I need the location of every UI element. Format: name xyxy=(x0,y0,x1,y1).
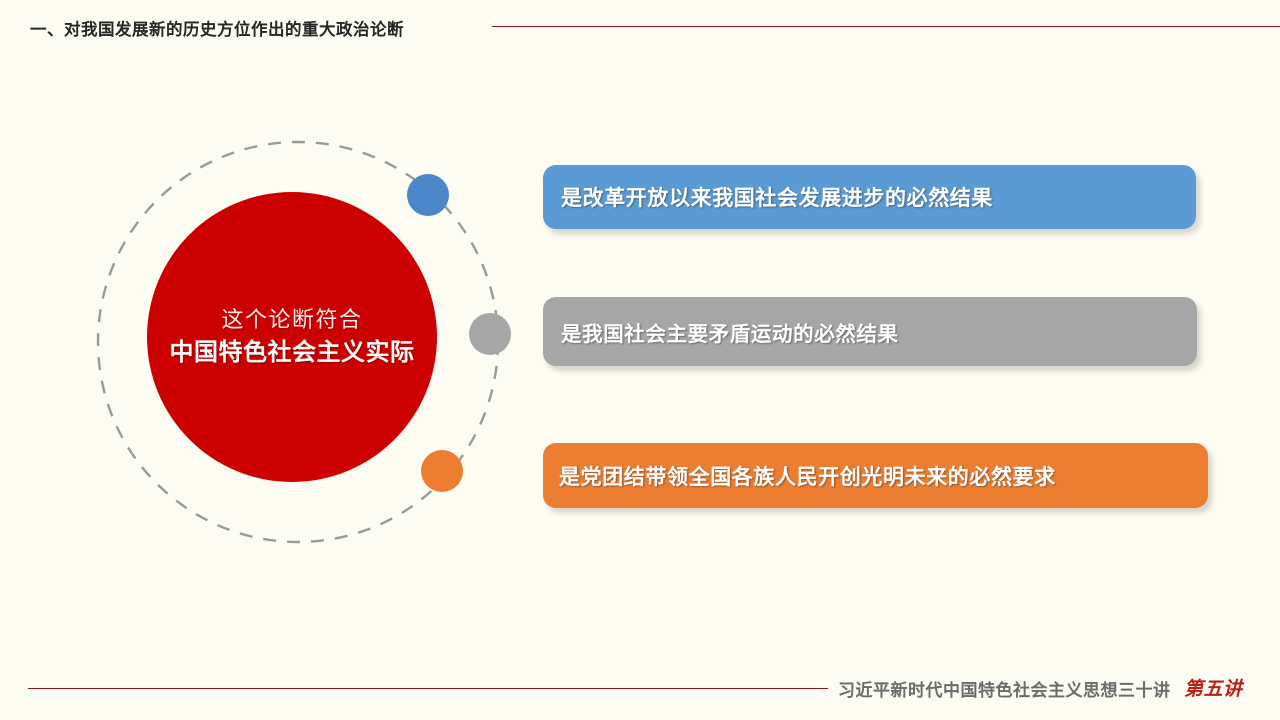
central-red-circle: 这个论断符合 中国特色社会主义实际 xyxy=(147,192,437,482)
gray-dot-icon xyxy=(469,313,511,355)
blue-dot-icon xyxy=(407,174,449,216)
statement-box-gray[interactable]: 是我国社会主要矛盾运动的必然结果 xyxy=(543,297,1197,366)
statement-text-1: 是改革开放以来我国社会发展进步的必然结果 xyxy=(561,182,993,212)
statement-text-3: 是党团结带领全国各族人民开创光明未来的必然要求 xyxy=(559,461,1056,491)
statement-box-blue[interactable]: 是改革开放以来我国社会发展进步的必然结果 xyxy=(543,165,1196,229)
slide-footer: 习近平新时代中国特色社会主义思想三十讲 第五讲 xyxy=(0,660,1280,720)
orange-dot-icon xyxy=(421,450,463,492)
orbit-diagram: 这个论断符合 中国特色社会主义实际 xyxy=(88,132,508,552)
circle-label-secondary: 中国特色社会主义实际 xyxy=(170,337,415,369)
header-divider-line xyxy=(492,26,1280,27)
slide-header: 一、对我国发展新的历史方位作出的重大政治论断 xyxy=(0,0,1280,52)
footer-course-title: 习近平新时代中国特色社会主义思想三十讲 xyxy=(838,676,1171,701)
circle-label-primary: 这个论断符合 xyxy=(221,305,362,335)
slide-canvas: 一、对我国发展新的历史方位作出的重大政治论断 这个论断符合 中国特色社会主义实际… xyxy=(0,0,1280,720)
page-title: 一、对我国发展新的历史方位作出的重大政治论断 xyxy=(30,16,404,40)
statement-text-2: 是我国社会主要矛盾运动的必然结果 xyxy=(561,317,899,347)
footer-divider-line xyxy=(28,688,828,689)
statement-box-orange[interactable]: 是党团结带领全国各族人民开创光明未来的必然要求 xyxy=(543,443,1208,508)
footer-lecture-number: 第五讲 xyxy=(1184,674,1243,701)
